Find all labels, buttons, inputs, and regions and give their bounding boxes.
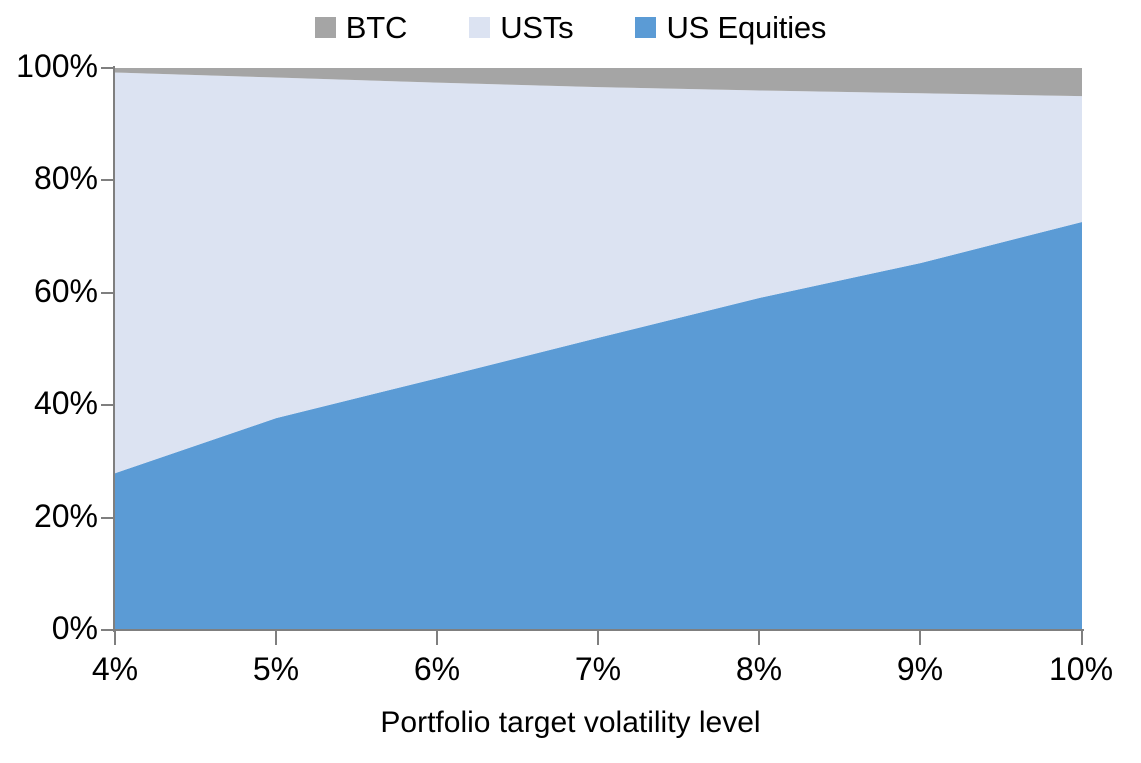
x-axis-tick-9 (919, 631, 921, 645)
legend-swatch-btc (315, 17, 336, 38)
chart-legend: BTC USTs US Equities (0, 6, 1141, 48)
x-axis-tick-10 (1081, 631, 1083, 645)
y-axis-label-100: 100% (3, 50, 98, 82)
x-axis-tick-4 (114, 631, 116, 645)
y-axis-label-80: 80% (3, 162, 98, 194)
x-axis-label-4: 4% (55, 652, 175, 686)
area-chart: BTC USTs US Equities 100% 80% 60% 40% 20… (0, 0, 1141, 763)
x-axis-tick-7 (597, 631, 599, 645)
legend-item-us-equities[interactable]: US Equities (635, 12, 826, 43)
legend-swatch-us-equities (635, 17, 656, 38)
x-axis-tick-8 (758, 631, 760, 645)
legend-label-btc: BTC (346, 12, 407, 43)
plot-area (115, 68, 1082, 630)
x-axis-title: Portfolio target volatility level (0, 706, 1141, 740)
x-axis-label-5: 5% (216, 652, 336, 686)
y-axis-label-60: 60% (3, 275, 98, 307)
x-axis-label-10: 10% (1021, 652, 1141, 686)
y-axis-label-0: 0% (3, 612, 98, 644)
x-axis-label-7: 7% (538, 652, 658, 686)
x-axis-label-8: 8% (699, 652, 819, 686)
stacked-area-svg (115, 68, 1082, 630)
legend-label-us-equities: US Equities (666, 12, 826, 43)
y-axis-labels: 100% 80% 60% 40% 20% 0% (0, 0, 98, 763)
y-axis-label-20: 20% (3, 500, 98, 532)
legend-swatch-usts (469, 17, 490, 38)
y-axis-line (113, 66, 115, 632)
y-axis-label-40: 40% (3, 387, 98, 419)
x-axis-label-9: 9% (860, 652, 980, 686)
legend-label-usts: USTs (500, 12, 573, 43)
legend-item-btc[interactable]: BTC (315, 12, 407, 43)
x-axis-tick-6 (436, 631, 438, 645)
x-axis-label-6: 6% (377, 652, 497, 686)
x-axis-tick-5 (275, 631, 277, 645)
legend-item-usts[interactable]: USTs (469, 12, 573, 43)
